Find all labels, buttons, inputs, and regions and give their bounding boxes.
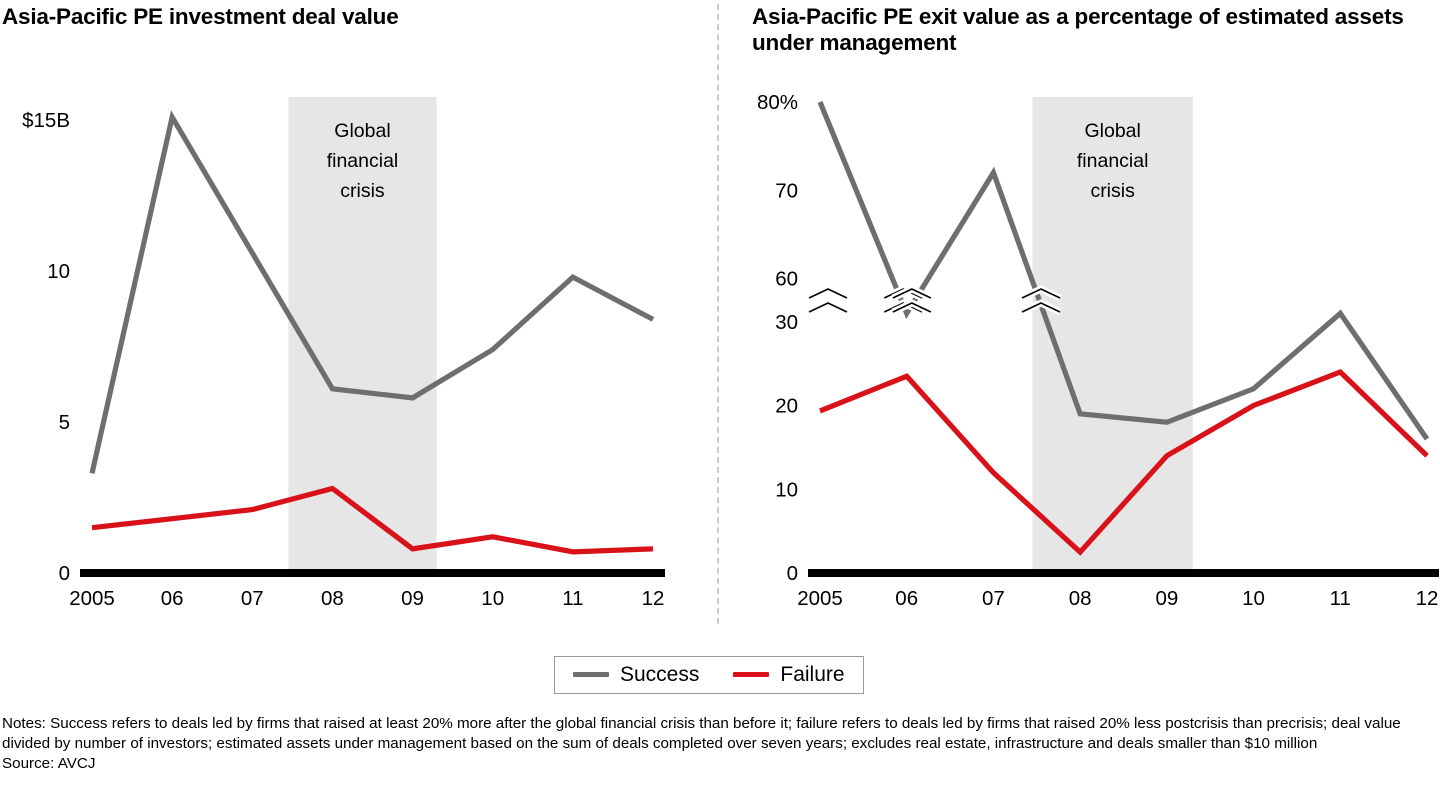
crisis-band-label: financial [1077,150,1149,172]
x-axis-tick-label: 08 [321,587,344,610]
x-axis-tick-label: 2005 [797,587,843,610]
axis-break-marker [809,289,847,312]
legend-item-success[interactable]: Success [573,664,699,685]
legend-label-success: Success [620,664,699,685]
legend-swatch-failure [733,672,769,677]
y-axis-tick-label: 10 [775,478,798,501]
y-axis-tick-label: 0 [59,562,70,585]
x-axis-tick-label: 12 [642,587,665,610]
x-axis-tick-label: 07 [982,587,1005,610]
y-axis-tick-label: $15B [22,109,70,132]
x-axis-tick-label: 11 [1330,587,1351,610]
x-axis-tick-label: 09 [1155,587,1178,610]
x-axis-tick-label: 10 [481,587,504,610]
footnotes: Notes: Success refers to deals led by fi… [2,714,1438,775]
crisis-band-label: crisis [1090,180,1135,202]
right-chart-plot: Globalfinancialcrisis80%7060302010020050… [720,0,1440,640]
y-axis-tick-label: 20 [775,395,798,418]
y-axis-tick-label: 60 [775,268,798,291]
y-axis-tick-label: 10 [47,260,70,283]
crisis-band-label: financial [327,150,399,172]
x-axis-tick-label: 08 [1069,587,1092,610]
x-axis-tick-label: 12 [1416,587,1439,610]
x-axis-tick-label: 10 [1242,587,1265,610]
crisis-band-label: Global [334,120,390,142]
x-axis-tick-label: 09 [401,587,424,610]
left-chart-plot: Globalfinancialcrisis$15B105020050607080… [0,0,720,640]
y-axis-tick-label: 5 [59,411,70,434]
crisis-band-label: Global [1084,120,1140,142]
y-axis-tick-label: 80% [757,91,798,114]
chart-legend: Success Failure [554,656,864,694]
y-axis-tick-label: 30 [775,311,798,334]
legend-swatch-success [573,672,609,677]
x-axis-tick-label: 06 [161,587,184,610]
crisis-band-label: crisis [340,180,385,202]
legend-label-failure: Failure [780,664,844,685]
x-axis-tick-label: 2005 [69,587,115,610]
chart-page: Asia-Pacific PE investment deal value As… [0,0,1440,810]
x-axis-tick-label: 06 [895,587,918,610]
y-axis-tick-label: 0 [787,562,798,585]
source-text: Source: AVCJ [2,754,1438,774]
x-axis-tick-label: 07 [241,587,264,610]
y-axis-tick-label: 70 [775,179,798,202]
x-axis-tick-label: 11 [562,587,583,610]
notes-text: Notes: Success refers to deals led by fi… [2,714,1438,754]
legend-item-failure[interactable]: Failure [733,664,844,685]
